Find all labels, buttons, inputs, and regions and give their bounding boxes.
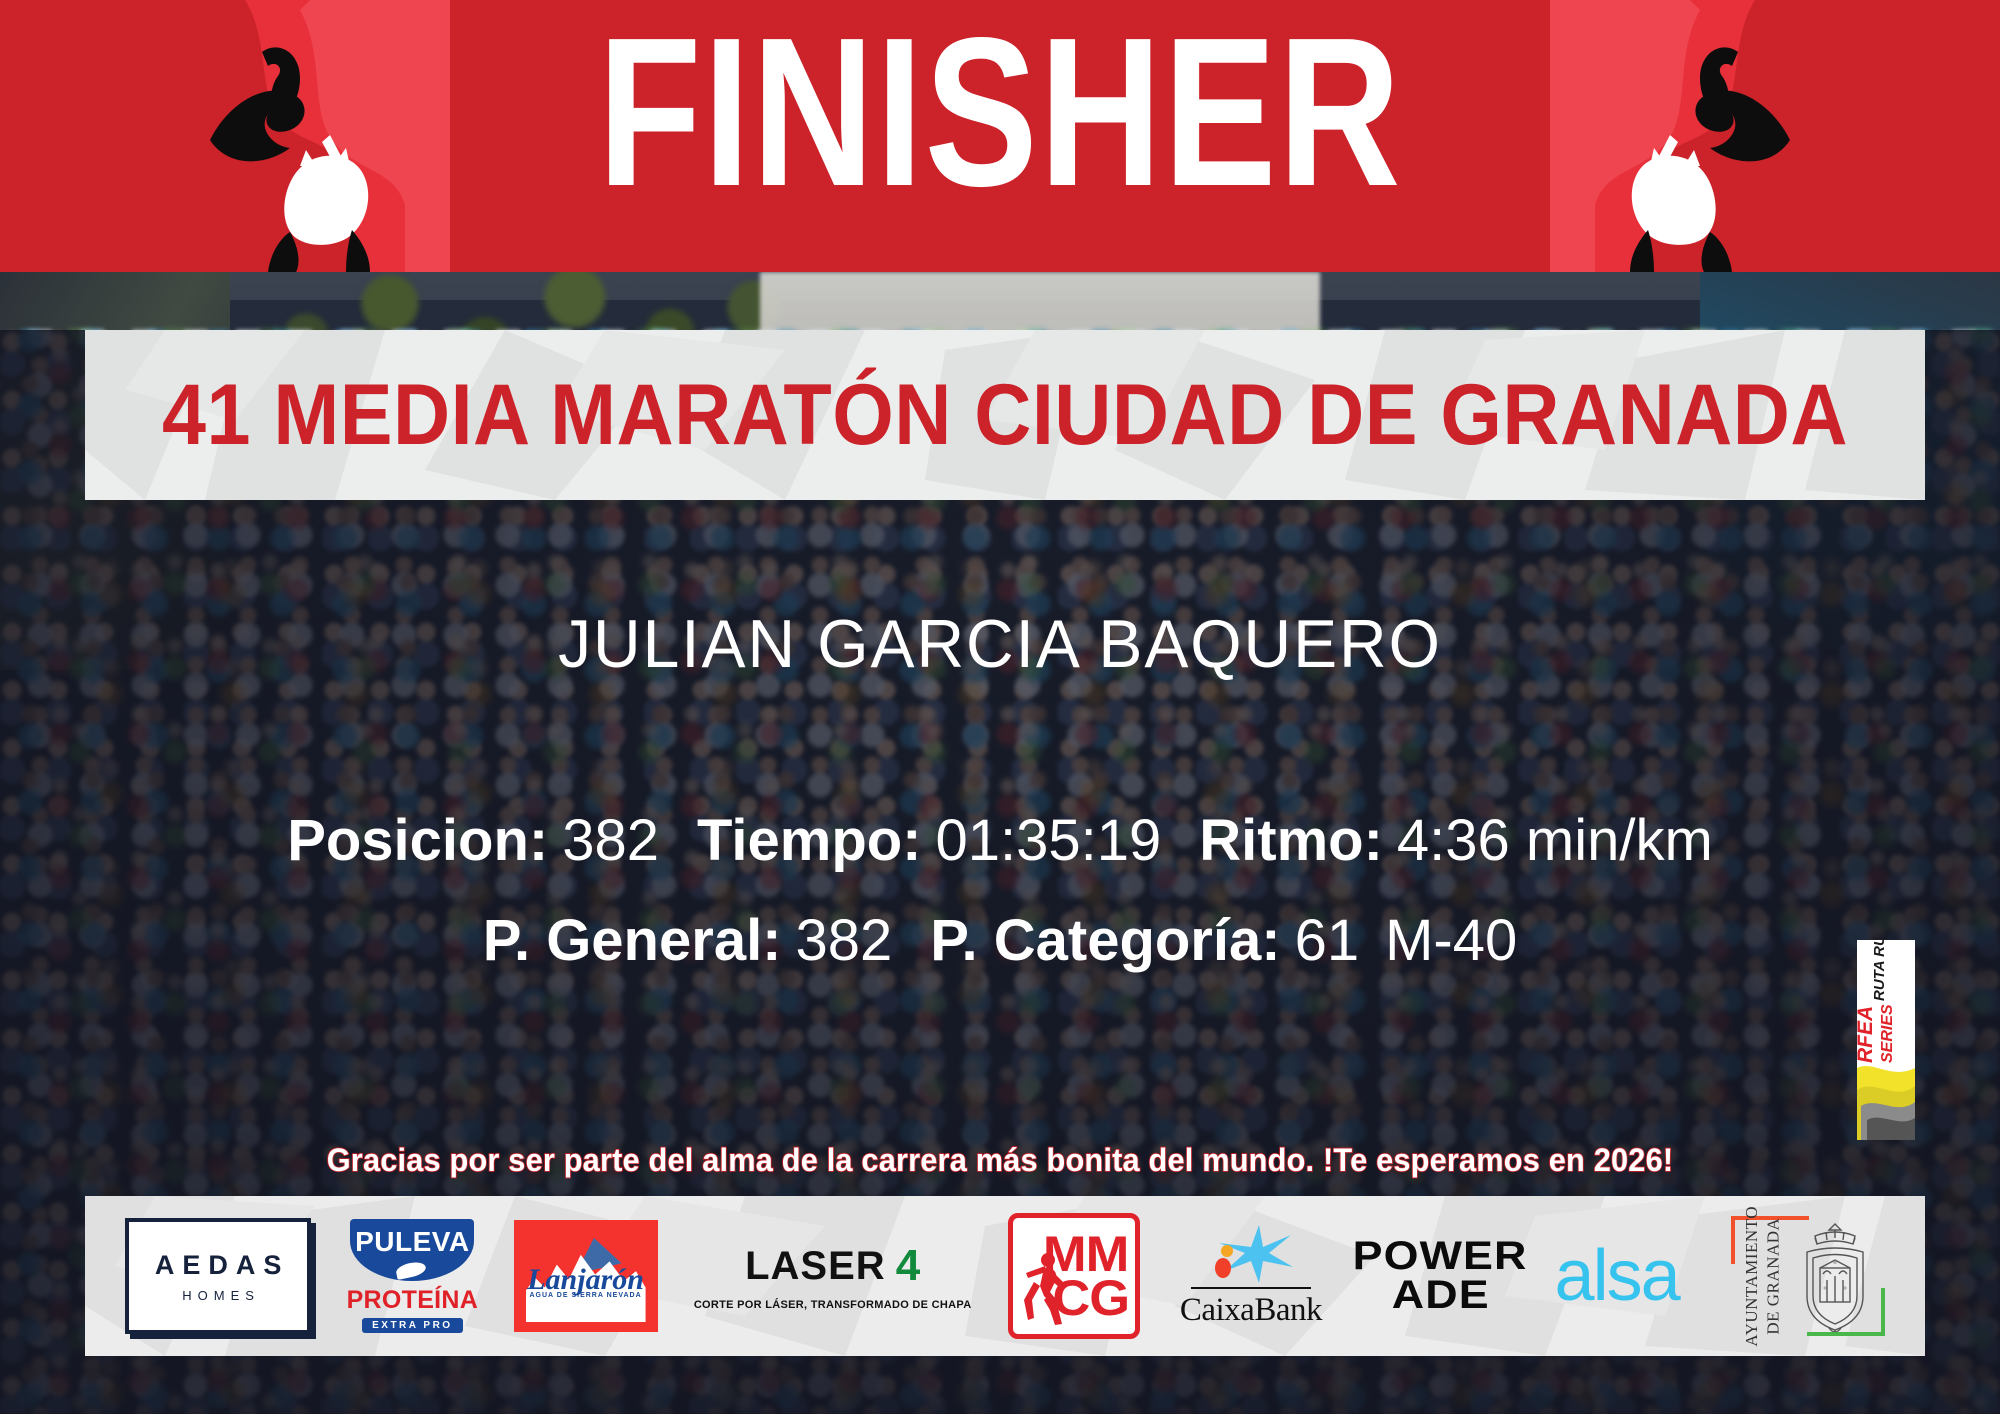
stat-posicion-value: 382 xyxy=(562,812,659,870)
puleva-proteina-word: PROTEÍNA xyxy=(347,1286,479,1315)
svg-text:SERIES: SERIES xyxy=(1879,1004,1896,1063)
stat-tiempo: Tiempo: 01:35:19 xyxy=(697,812,1161,870)
stat-p-general: P. General: 382 xyxy=(483,912,893,970)
finisher-certificate: FINISHER xyxy=(0,0,2000,1414)
puleva-wordmark: PULEVA xyxy=(355,1226,470,1258)
stat-posicion-label: Posicion: xyxy=(287,812,548,870)
corner-bracket-green-icon xyxy=(1807,1288,1885,1336)
stat-tiempo-value: 01:35:19 xyxy=(936,812,1162,870)
caixabank-wordmark: CaixaBank xyxy=(1180,1292,1322,1329)
sponsor-logo-ayuntamiento-de-granada[interactable]: AYUNTAMIENTO DE GRANADA xyxy=(1715,1212,1885,1340)
stat-categoria-code: M-40 xyxy=(1385,912,1517,970)
finisher-banner: FINISHER xyxy=(0,0,2000,272)
stat-p-categoria: P. Categoría: 61 M-40 xyxy=(930,912,1517,970)
sponsor-bar: AEDAS HOMES PULEVA PROTEÍNA EXTRA PRO La… xyxy=(85,1196,1925,1356)
sponsor-logo-alsa[interactable]: alsa xyxy=(1555,1240,1679,1312)
sponsor-logo-aedas-homes[interactable]: AEDAS HOMES xyxy=(125,1218,311,1334)
aedas-subtitle: HOMES xyxy=(176,1288,260,1303)
results-block: Posicion: 382 Tiempo: 01:35:19 Ritmo: 4:… xyxy=(0,812,2000,970)
sponsor-logo-mmcg[interactable]: MM CG xyxy=(1008,1213,1140,1339)
rfea-series-badge: RFEA SERIES RUTA RUNNING xyxy=(1857,940,1915,1140)
thanks-message: Gracias por ser parte del alma de la car… xyxy=(40,1142,1960,1179)
svg-text:RFEA: RFEA xyxy=(1857,1006,1877,1063)
ayuntamiento-wordmark: AYUNTAMIENTO DE GRANADA xyxy=(1741,1206,1784,1347)
mmcg-line-2: CG xyxy=(1052,1276,1129,1320)
race-title-band: 41 MEDIA MARATÓN CIUDAD DE GRANADA xyxy=(85,330,1925,500)
stat-p-general-value: 382 xyxy=(796,912,893,970)
sponsor-logo-laser4[interactable]: LASER 4 CORTE POR LÁSER, TRANSFORMADO DE… xyxy=(694,1241,972,1311)
stat-ritmo-value: 4:36 min/km xyxy=(1397,812,1713,870)
sponsor-logo-powerade[interactable]: POWER ADE xyxy=(1362,1238,1518,1314)
caixabank-divider xyxy=(1191,1287,1311,1289)
stat-tiempo-label: Tiempo: xyxy=(697,812,922,870)
powerade-line-1: POWER xyxy=(1353,1238,1528,1275)
sponsor-logo-caixabank[interactable]: CaixaBank xyxy=(1176,1223,1326,1329)
sponsor-logo-lanjaron[interactable]: Lanjarón AGUA DE SIERRA NEVADA xyxy=(514,1220,658,1332)
powerade-line-2: ADE xyxy=(1391,1277,1489,1314)
laser-number: 4 xyxy=(896,1241,920,1291)
results-row-secondary: P. General: 382 P. Categoría: 61 M-40 xyxy=(0,912,2000,970)
lanjaron-subtitle: AGUA DE SIERRA NEVADA xyxy=(514,1292,658,1299)
stat-p-general-label: P. General: xyxy=(483,912,782,970)
ayuntamiento-line-1: AYUNTAMIENTO xyxy=(1742,1206,1761,1347)
laser-tagline: CORTE POR LÁSER, TRANSFORMADO DE CHAPA xyxy=(694,1299,972,1311)
laser-wordmark: LASER xyxy=(745,1244,886,1289)
stat-p-categoria-value: 61 xyxy=(1295,912,1360,970)
stat-ritmo: Ritmo: 4:36 min/km xyxy=(1199,812,1713,870)
puleva-extra-pro-tag: EXTRA PRO xyxy=(362,1318,462,1333)
finisher-title: FINISHER xyxy=(200,6,1800,218)
milk-drop-icon xyxy=(395,1260,427,1280)
stat-posicion: Posicion: 382 xyxy=(287,812,659,870)
results-row-primary: Posicion: 382 Tiempo: 01:35:19 Ritmo: 4:… xyxy=(0,812,2000,870)
runner-name: JULIAN GARCIA BAQUERO xyxy=(30,605,1970,683)
stat-p-categoria-label: P. Categoría: xyxy=(930,912,1280,970)
sponsor-logo-puleva[interactable]: PULEVA PROTEÍNA EXTRA PRO xyxy=(347,1219,477,1333)
aedas-wordmark: AEDAS xyxy=(147,1250,290,1281)
stat-ritmo-label: Ritmo: xyxy=(1199,812,1383,870)
caixabank-star-icon xyxy=(1205,1223,1297,1285)
ayuntamiento-line-2: DE GRANADA xyxy=(1763,1218,1782,1335)
sponsor-logos: AEDAS HOMES PULEVA PROTEÍNA EXTRA PRO La… xyxy=(85,1196,1925,1356)
svg-text:RUTA RUNNING: RUTA RUNNING xyxy=(1871,940,1888,1001)
race-title: 41 MEDIA MARATÓN CIUDAD DE GRANADA xyxy=(159,330,1852,500)
